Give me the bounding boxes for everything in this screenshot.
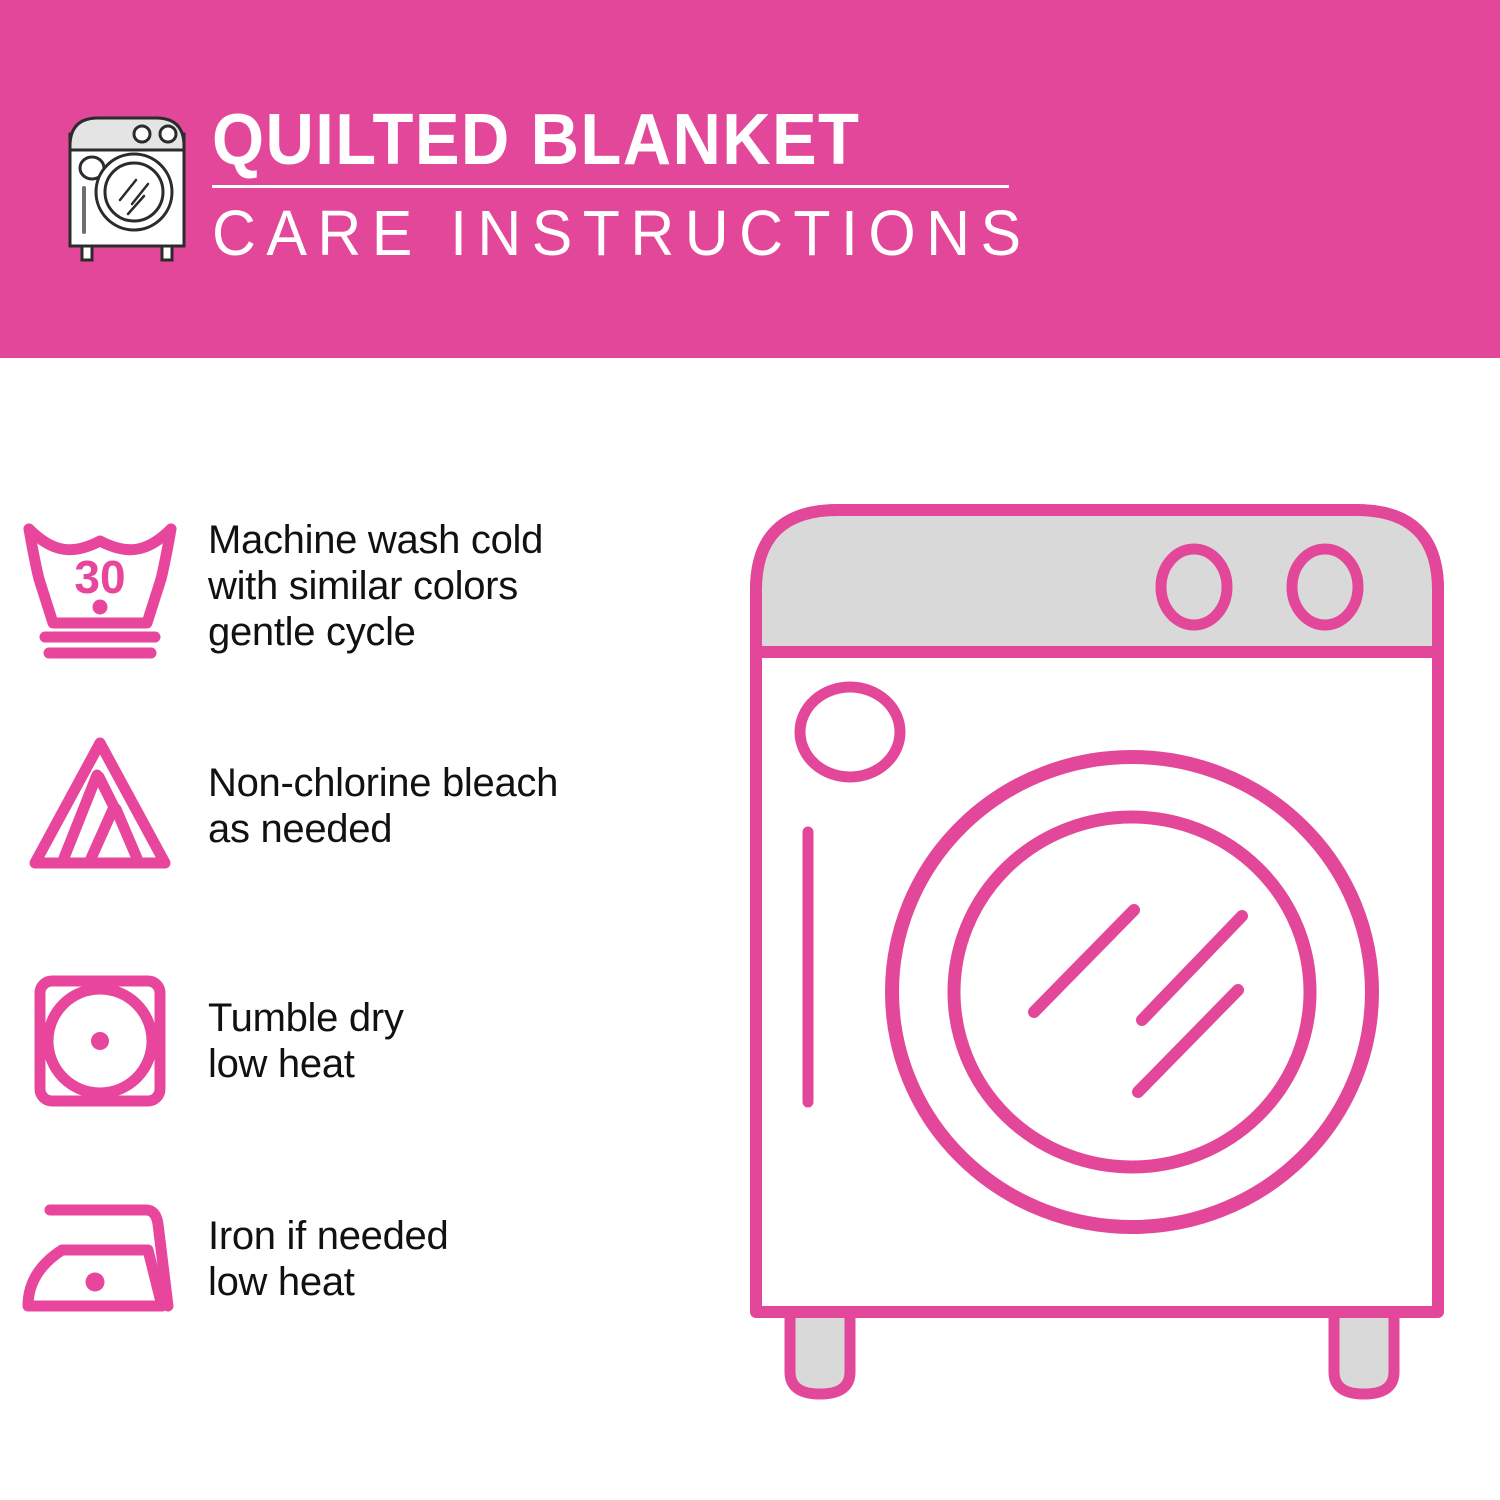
instruction-row-wash: 30 Machine wash cold with similar colors… [0, 486, 720, 686]
header-text-block: QUILTED BLANKET CARE INSTRUCTIONS [212, 100, 1022, 270]
care-instructions-infographic: QUILTED BLANKET CARE INSTRUCTIONS 30 [0, 0, 1500, 1500]
tumble-dry-low-heat-icon [0, 966, 200, 1116]
instruction-row-iron: Iron if needed low heat [0, 1176, 720, 1341]
instruction-label-wash: Machine wash cold with similar colors ge… [200, 517, 720, 655]
wash-tub-30-gentle-icon: 30 [0, 511, 200, 661]
instruction-label-iron: Iron if needed low heat [200, 1213, 720, 1305]
instruction-label-bleach: Non-chlorine bleach as needed [200, 760, 720, 852]
washing-machine-icon [62, 104, 192, 262]
washing-machine-illustration [742, 492, 1452, 1422]
header-divider [212, 185, 1009, 188]
control-knob-left [1161, 549, 1227, 625]
page-title: QUILTED BLANKET [212, 100, 965, 180]
iron-low-heat-icon [0, 1194, 200, 1324]
indicator-light [800, 687, 900, 777]
wash-temperature-value: 30 [74, 551, 125, 603]
non-chlorine-bleach-triangle-icon [0, 731, 200, 881]
header-band: QUILTED BLANKET CARE INSTRUCTIONS [0, 0, 1500, 358]
instruction-label-tumble-dry: Tumble dry low heat [200, 995, 720, 1087]
door-inner-ring [954, 817, 1310, 1167]
page-subtitle: CARE INSTRUCTIONS [212, 196, 982, 270]
instruction-row-bleach: Non-chlorine bleach as needed [0, 718, 720, 893]
control-knob-right [1292, 549, 1358, 625]
instruction-row-tumble-dry: Tumble dry low heat [0, 956, 720, 1126]
